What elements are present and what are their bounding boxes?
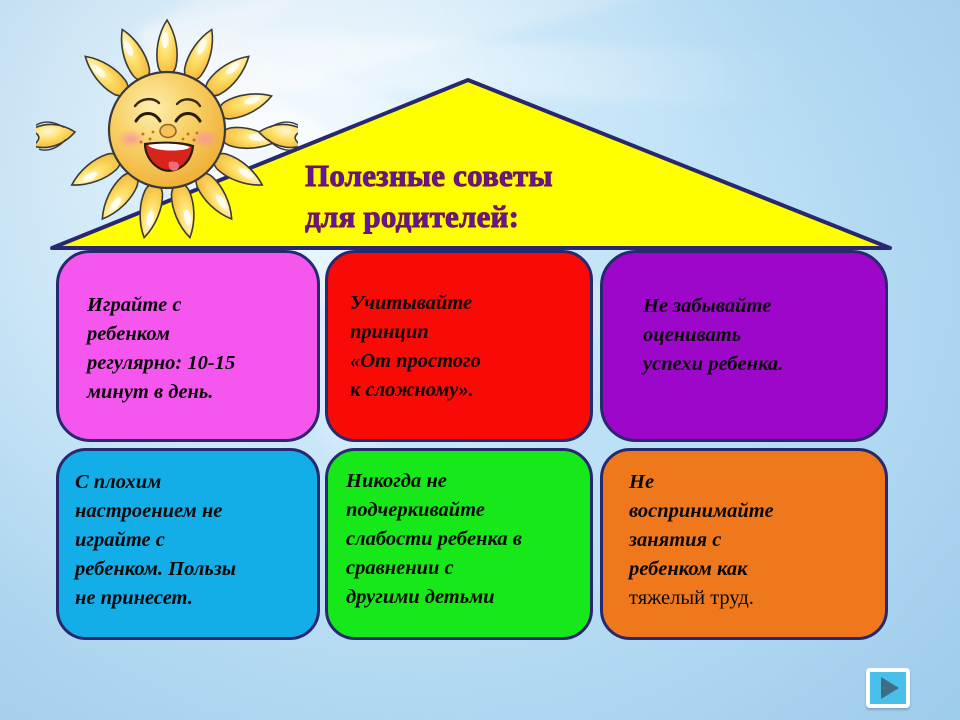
page-title: Полезные советы для родителей:	[305, 155, 553, 237]
tip-card-hardwork-text: Не воспринимайте занятия с ребенком как	[629, 468, 885, 584]
play-triangle-icon	[881, 677, 899, 699]
tip-card-principle[interactable]: Учитывайте принцип «От простого к сложно…	[325, 250, 593, 442]
sun-hand-left-icon	[36, 118, 77, 152]
tip-card-praise[interactable]: Не забывайте оценивать успехи ребенка.	[600, 250, 888, 442]
tip-card-mood[interactable]: С плохим настроением не играйте с ребенк…	[56, 448, 320, 640]
tip-card-hardwork[interactable]: Не воспринимайте занятия с ребенком как …	[600, 448, 888, 640]
tip-card-play[interactable]: Играйте с ребенком регулярно: 10-15 мину…	[56, 250, 320, 442]
tip-card-mood-text: С плохим настроением не играйте с ребенк…	[75, 468, 317, 614]
tip-card-compare[interactable]: Никогда не подчеркивайте слабости ребенк…	[325, 448, 593, 640]
tip-card-praise-text: Не забывайте оценивать успехи ребенка.	[643, 292, 885, 379]
tip-card-principle-text: Учитывайте принцип «От простого к сложно…	[350, 289, 590, 405]
next-slide-button[interactable]	[866, 668, 910, 708]
tip-card-hardwork-tail: тяжелый труд.	[629, 584, 885, 613]
slide-canvas: Полезные советы для родителей: Играйте с…	[0, 0, 960, 720]
tip-card-compare-text: Никогда не подчеркивайте слабости ребенк…	[346, 467, 590, 613]
smiling-sun-icon	[36, 14, 298, 246]
tip-card-play-text: Играйте с ребенком регулярно: 10-15 мину…	[87, 291, 317, 407]
